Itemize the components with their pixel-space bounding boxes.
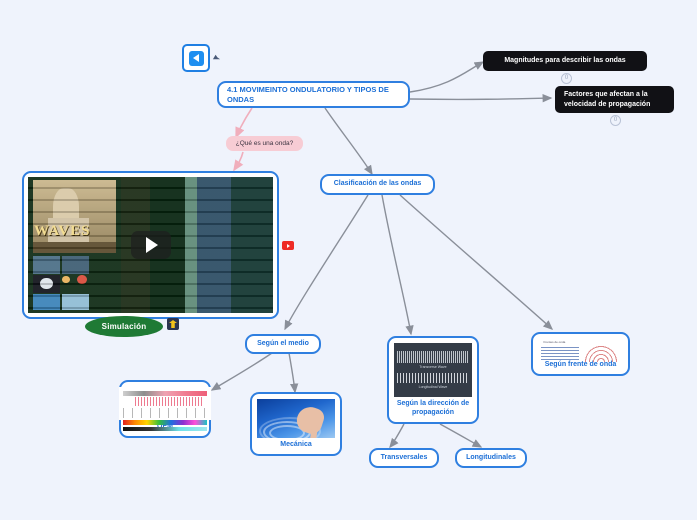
node-magnitudes-label: Magnitudes para describir las ondas xyxy=(504,56,625,65)
node-segun-direccion[interactable]: Transverse Wave Longitudinal Wave Según … xyxy=(387,336,479,424)
node-root[interactable]: 4.1 MOVIMEINTO ONDULATORIO Y TIPOS DE ON… xyxy=(217,81,410,108)
node-segun-el-medio-label: Según el medio xyxy=(257,340,309,349)
node-segun-el-medio[interactable]: Según el medio xyxy=(245,334,321,354)
node-que-es-una-onda[interactable]: ¿Qué es una onda? xyxy=(226,136,303,151)
hand-in-water-ripples-image xyxy=(257,399,335,438)
small-attachment-icon[interactable] xyxy=(212,52,221,61)
node-mecanica-label: Mecánica xyxy=(280,441,312,449)
node-magnitudes[interactable]: Magnitudes para describir las ondas xyxy=(483,51,647,71)
node-transversales-label: Transversales xyxy=(381,454,428,463)
collapse-back-icon[interactable] xyxy=(182,44,210,72)
video-thumbnail[interactable]: WAVES xyxy=(28,177,273,313)
node-clasificacion-label: Clasificación de las ondas xyxy=(334,180,422,189)
back-triangle-icon xyxy=(189,51,204,66)
magnitudes-collapse-marker[interactable]: 0 xyxy=(561,73,572,84)
node-root-label: 4.1 MOVIMEINTO ONDULATORIO Y TIPOS DE ON… xyxy=(227,85,400,104)
transverse-longitudinal-wave-image: Transverse Wave Longitudinal Wave xyxy=(394,343,472,397)
electromagnetic-spectrum-image xyxy=(119,387,211,420)
node-mecanica[interactable]: Mecánica xyxy=(250,392,342,456)
node-longitudinales[interactable]: Longitudinales xyxy=(455,448,527,468)
node-oem[interactable]: OEM xyxy=(119,380,211,438)
node-video-waves[interactable]: WAVES xyxy=(22,171,279,319)
node-longitudinales-label: Longitudinales xyxy=(466,454,516,463)
node-transversales[interactable]: Transversales xyxy=(369,448,439,468)
node-simulacion[interactable]: Simulación xyxy=(85,316,163,337)
node-segun-frente[interactable]: Frentes de onda Según frente de onda xyxy=(531,332,630,376)
play-icon[interactable] xyxy=(131,231,171,259)
mindmap-canvas: 4.1 MOVIMEINTO ONDULATORIO Y TIPOS DE ON… xyxy=(0,0,697,520)
node-simulacion-label: Simulación xyxy=(102,322,147,331)
node-clasificacion[interactable]: Clasificación de las ondas xyxy=(320,174,435,195)
node-factores[interactable]: Factores que afectan a la velocidad de p… xyxy=(555,86,674,113)
node-que-es-una-onda-label: ¿Qué es una onda? xyxy=(236,140,293,147)
factores-collapse-marker[interactable]: 0 xyxy=(610,115,621,126)
file-attachment-icon[interactable] xyxy=(167,318,179,330)
youtube-icon[interactable] xyxy=(282,241,294,250)
node-factores-label: Factores que afectan a la velocidad de p… xyxy=(564,90,665,108)
wavefront-diagram-image: Frentes de onda xyxy=(538,339,624,358)
node-segun-direccion-label: Según la dirección de propagación xyxy=(394,400,472,417)
